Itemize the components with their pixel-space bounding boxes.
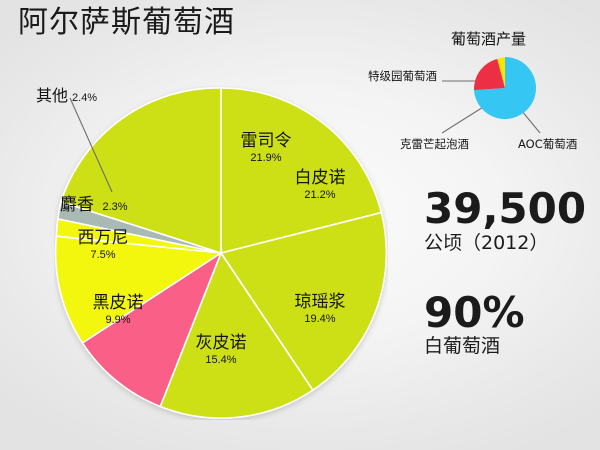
page-title: 阿尔萨斯葡萄酒 xyxy=(18,8,235,38)
stat-area: 39,500 公顷（2012） xyxy=(424,188,594,256)
legend-label-cremant: 克雷芒起泡酒 xyxy=(400,136,469,152)
grape-varieties-pie-svg xyxy=(54,86,388,420)
stat-white-wine-caption: 白葡萄酒 xyxy=(424,335,594,359)
legend-label-aoc: AOC葡萄酒 xyxy=(518,136,577,152)
pie-callout-qi-ta-name: 其他 xyxy=(36,86,68,105)
legend-label-grandcru: 特级园葡萄酒 xyxy=(368,68,437,84)
stats-block: 39,500 公顷（2012） 90% 白葡萄酒 xyxy=(424,188,594,359)
wine-production-pie-svg xyxy=(473,56,537,120)
pie-callout-qi-ta-percent: 2.4% xyxy=(72,92,97,104)
grape-varieties-pie-chart: 雷司令 21.9% 白皮诺 21.2% 琼瑶浆 19.4% 灰皮诺 15.4% … xyxy=(54,86,388,420)
pie-callout-qi-ta: 其他2.4% xyxy=(36,82,97,106)
stat-white-wine-value: 90% xyxy=(424,292,594,335)
stat-white-wine: 90% 白葡萄酒 xyxy=(424,292,594,360)
infographic-canvas: 阿尔萨斯葡萄酒 xyxy=(0,0,600,450)
stat-area-caption: 公顷（2012） xyxy=(424,232,594,256)
wine-production-pie-chart xyxy=(473,56,537,120)
stat-area-value: 39,500 xyxy=(424,188,594,231)
wine-production-chart-title: 葡萄酒产量 xyxy=(451,28,526,49)
